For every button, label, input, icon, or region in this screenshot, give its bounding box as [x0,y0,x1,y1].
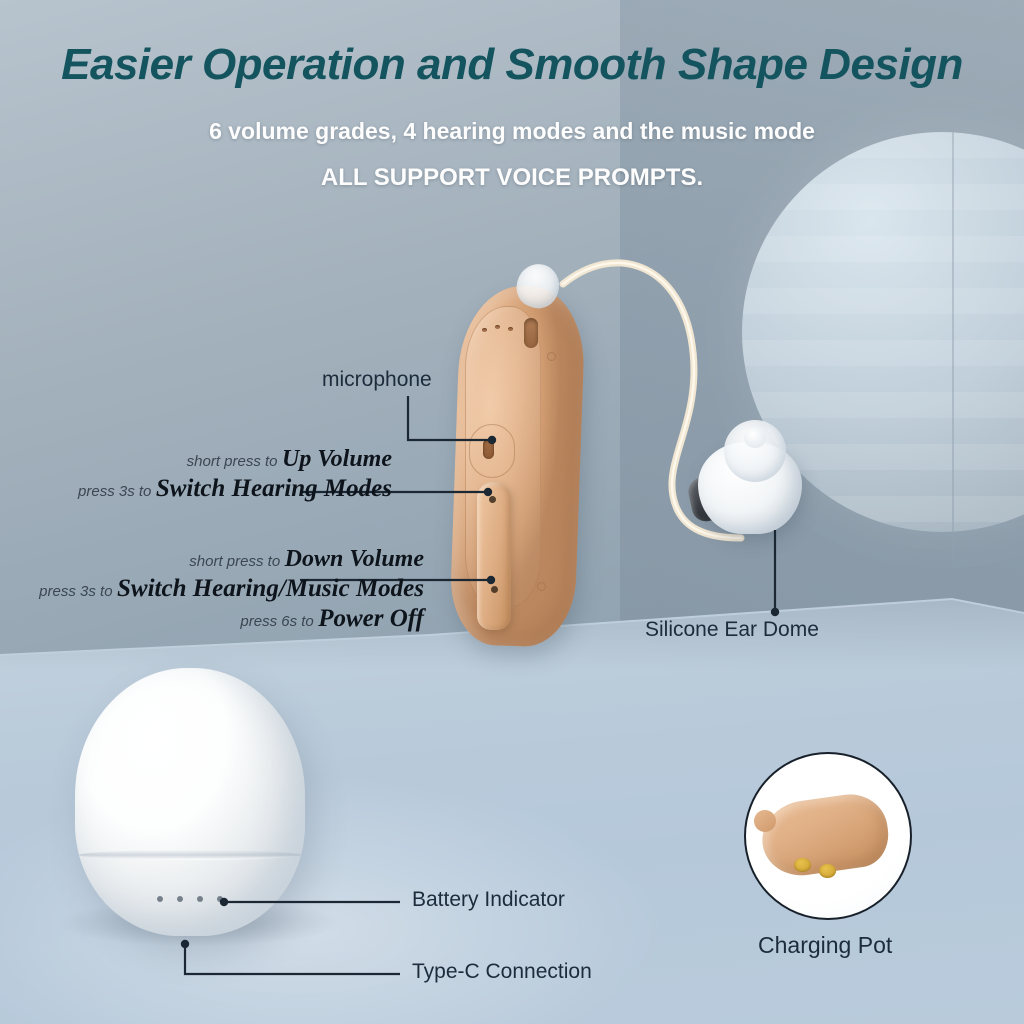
control-group-down-volume: short press to Down Volume press 3s to S… [39,546,424,633]
label-type-c-connection: Type-C Connection [412,960,592,984]
control-prefix: press 6s to [240,613,313,630]
down-volume-anchor-dot [487,576,495,584]
control-line: press 6s to Power Off [39,605,424,633]
label-silicone-ear-dome: Silicone Ear Dome [645,618,819,642]
control-action: Switch Hearing Modes [156,475,392,502]
control-prefix: press 3s to [39,583,112,600]
control-line: press 3s to Switch Hearing/Music Modes [39,575,424,603]
label-charging-pot: Charging Pot [758,932,892,959]
up-volume-anchor-dot [484,488,492,496]
control-action: Down Volume [285,546,424,572]
control-action: Switch Hearing/Music Modes [117,575,424,602]
control-prefix: short press to [189,553,280,570]
type-c-anchor-dot [181,940,189,948]
control-action: Power Off [318,605,424,632]
infographic-canvas: Easier Operation and Smooth Shape Design… [0,0,1024,1024]
control-action: Up Volume [282,446,392,472]
control-prefix: press 3s to [78,483,151,500]
leader-lines [0,0,1024,1024]
control-line: short press to Down Volume [39,546,424,573]
control-line: short press to Up Volume [78,446,392,473]
battery-indicator-anchor-dot [220,898,228,906]
label-microphone: microphone [322,368,432,392]
label-battery-indicator: Battery Indicator [412,888,565,912]
control-line: press 3s to Switch Hearing Modes [78,475,392,503]
control-group-up-volume: short press to Up Volume press 3s to Swi… [78,446,392,503]
ear-dome-anchor-dot [771,608,779,616]
microphone-anchor-dot [488,436,496,444]
control-prefix: short press to [187,453,278,470]
